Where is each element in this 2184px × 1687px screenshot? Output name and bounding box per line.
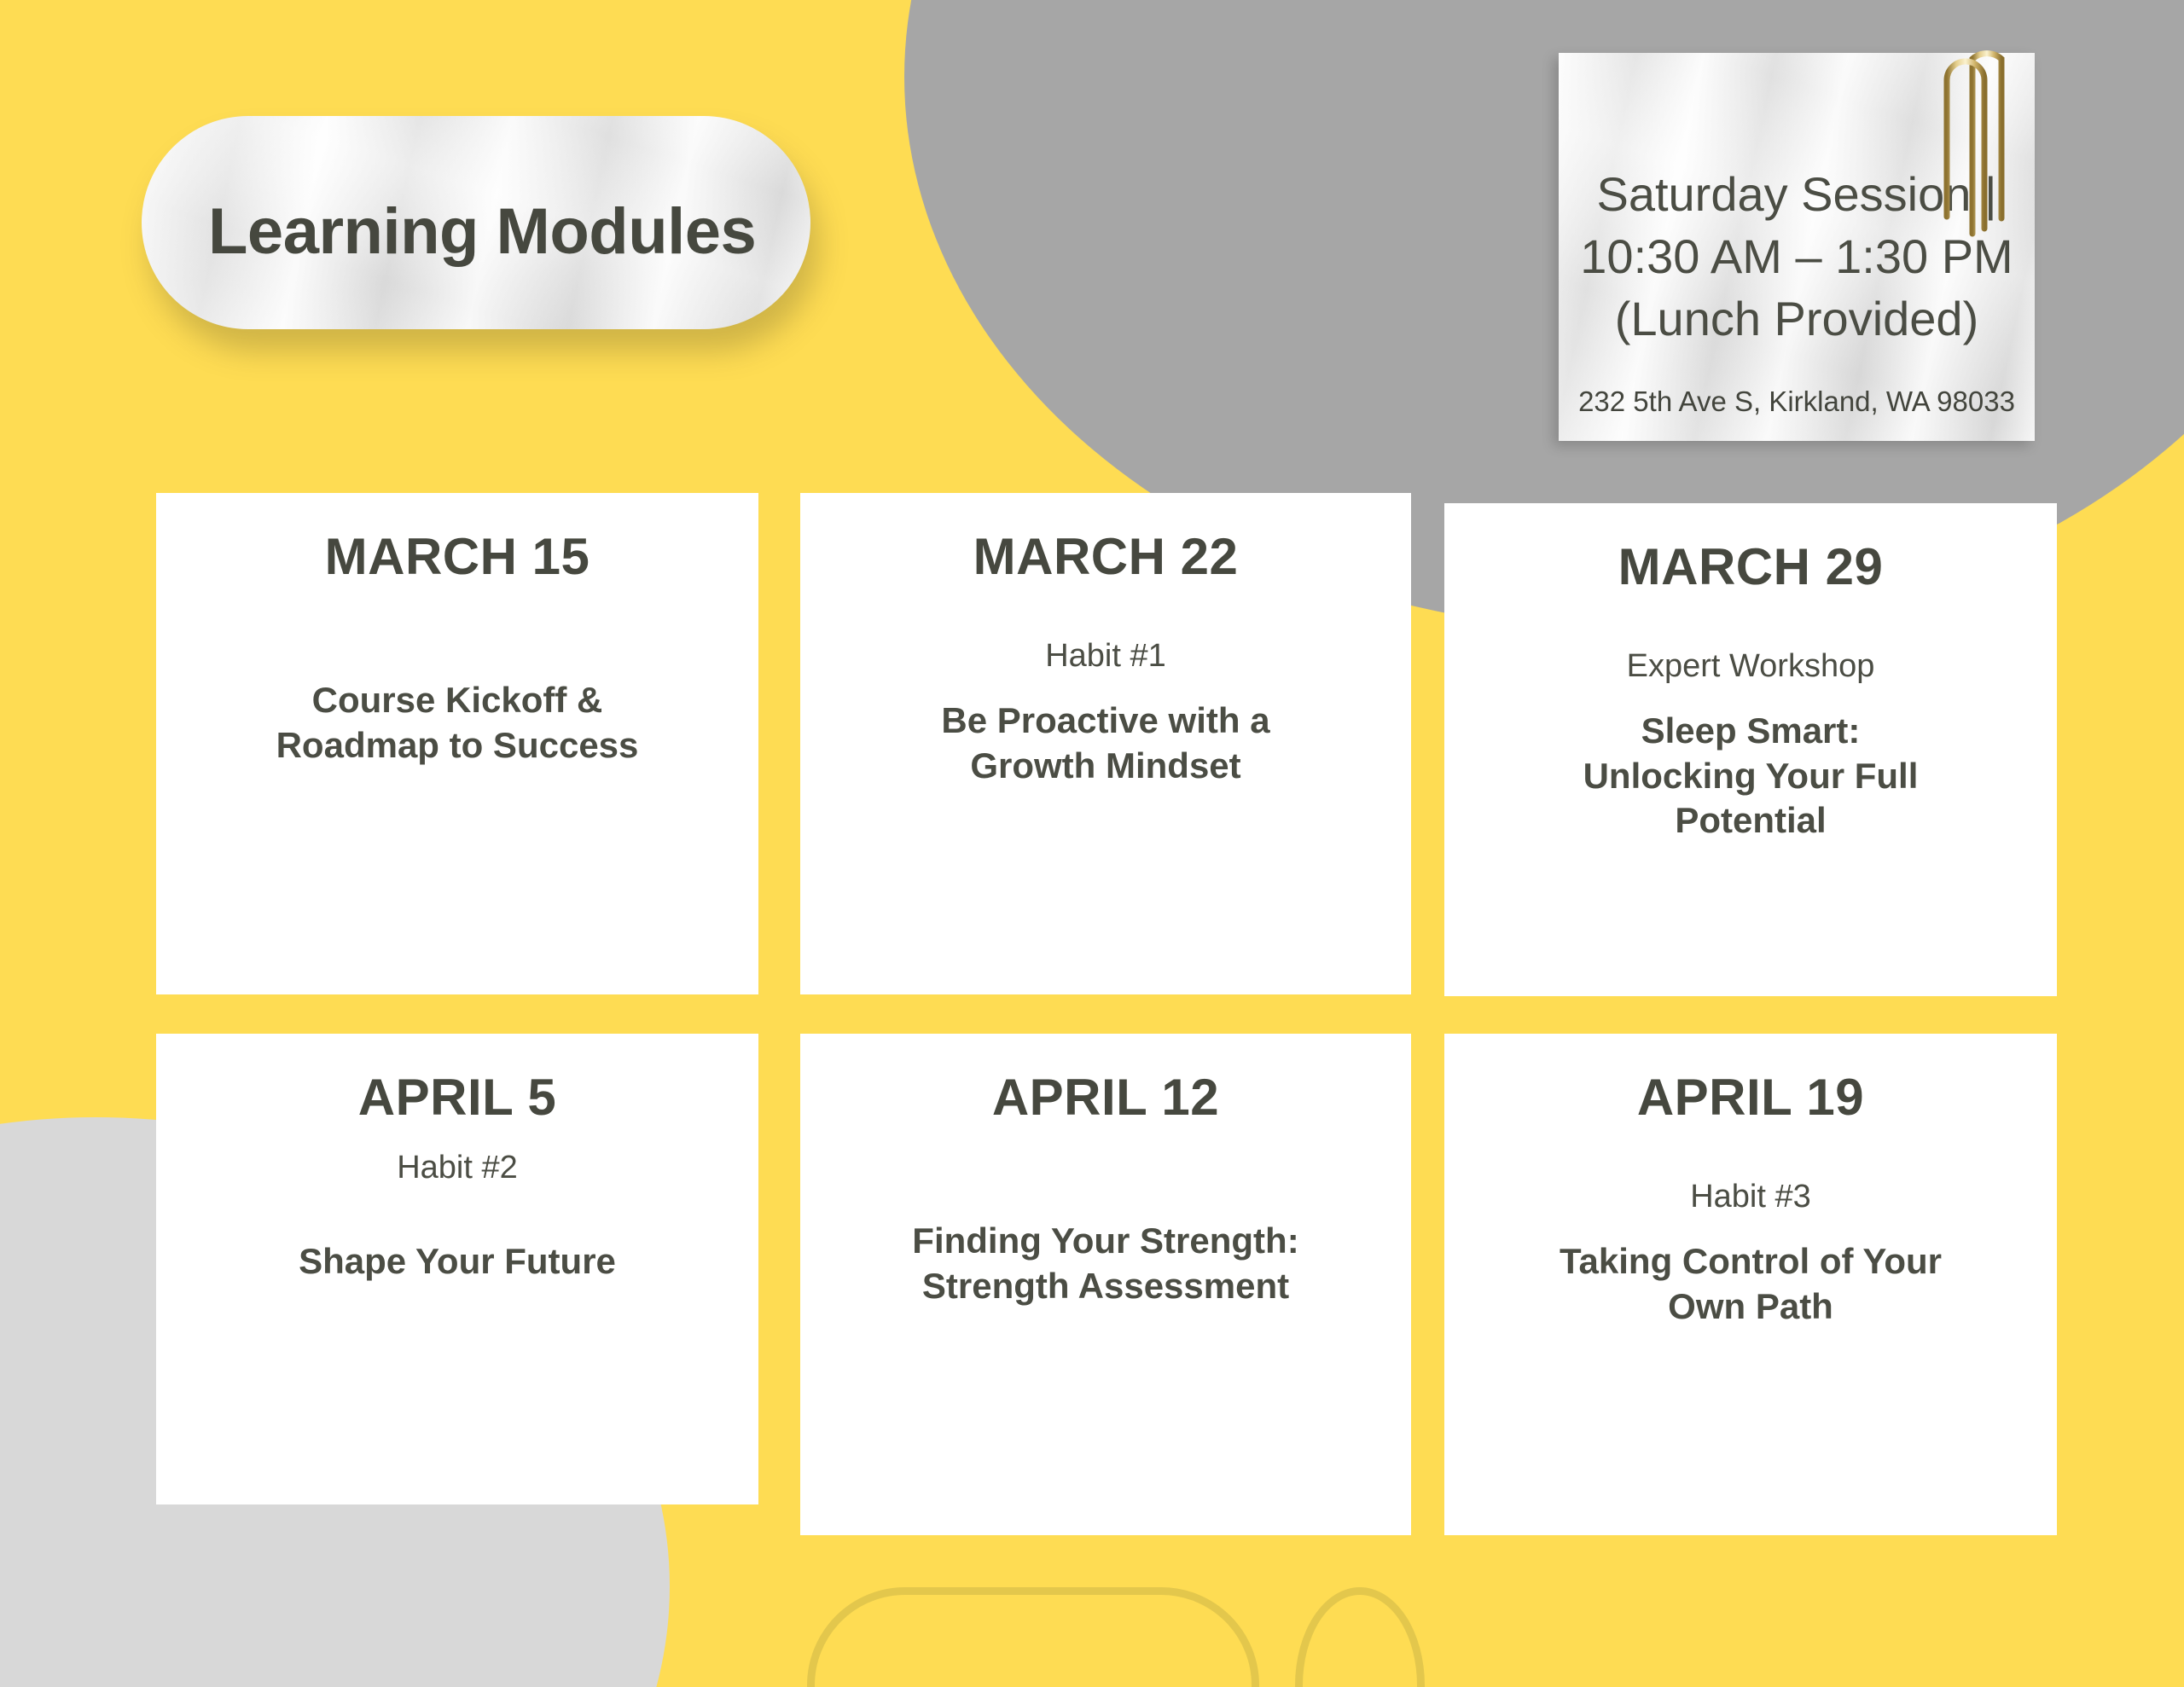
module-card[interactable]: APRIL 12 Finding Your Strength:Strength …	[800, 1034, 1411, 1535]
module-card[interactable]: APRIL 19 Habit #3 Taking Control of Your…	[1444, 1034, 2057, 1535]
rounded-rectangle-outline-decoration	[807, 1587, 1259, 1687]
module-subtitle: Habit #2	[185, 1149, 729, 1188]
card-spacer	[829, 586, 1382, 637]
module-subtitle: Habit #3	[1473, 1178, 2028, 1217]
module-date: APRIL 19	[1473, 1068, 2028, 1127]
module-title: Course Kickoff &Roadmap to Success	[185, 678, 729, 768]
session-line-3: (Lunch Provided)	[1574, 288, 2019, 351]
module-subtitle: Expert Workshop	[1473, 647, 2028, 687]
card-spacer	[829, 676, 1382, 699]
card-spacer	[1473, 1127, 2028, 1178]
ellipse-outline-decoration	[1295, 1587, 1425, 1687]
module-card[interactable]: APRIL 5 Habit #2 Shape Your Future	[156, 1034, 758, 1504]
page-title-pill: Learning Modules	[142, 116, 810, 329]
module-title: Taking Control of YourOwn Path	[1473, 1239, 2028, 1330]
poster-canvas: Learning Modules Saturday Session | 10:3…	[0, 0, 2184, 1687]
card-spacer	[185, 1127, 729, 1149]
module-date: APRIL 12	[829, 1068, 1382, 1127]
module-card[interactable]: MARCH 29 Expert Workshop Sleep Smart:Unl…	[1444, 503, 2057, 996]
module-date: MARCH 15	[185, 527, 729, 586]
session-line-1: Saturday Session |	[1574, 164, 2019, 226]
module-date: APRIL 5	[185, 1068, 729, 1127]
card-spacer	[185, 1188, 729, 1239]
session-address: 232 5th Ave S, Kirkland, WA 98033	[1574, 386, 2019, 418]
module-subtitle: Habit #1	[829, 637, 1382, 676]
card-spacer	[1473, 687, 2028, 709]
module-date: MARCH 29	[1473, 537, 2028, 596]
card-spacer	[1473, 596, 2028, 647]
card-spacer	[829, 1127, 1382, 1219]
session-line-2: 10:30 AM – 1:30 PM	[1574, 226, 2019, 288]
module-title: Sleep Smart:Unlocking Your FullPotential	[1473, 709, 2028, 844]
module-title: Be Proactive with aGrowth Mindset	[829, 699, 1382, 789]
module-date: MARCH 22	[829, 527, 1382, 586]
session-info-note: Saturday Session | 10:30 AM – 1:30 PM (L…	[1559, 53, 2035, 441]
module-title: Finding Your Strength:Strength Assessmen…	[829, 1219, 1382, 1309]
module-title: Shape Your Future	[185, 1239, 729, 1284]
card-spacer	[1473, 1217, 2028, 1239]
page-title: Learning Modules	[208, 194, 756, 269]
module-card[interactable]: MARCH 15 Course Kickoff &Roadmap to Succ…	[156, 493, 758, 994]
card-spacer	[185, 586, 729, 678]
session-info-text: Saturday Session | 10:30 AM – 1:30 PM (L…	[1574, 164, 2019, 350]
module-card[interactable]: MARCH 22 Habit #1 Be Proactive with aGro…	[800, 493, 1411, 994]
